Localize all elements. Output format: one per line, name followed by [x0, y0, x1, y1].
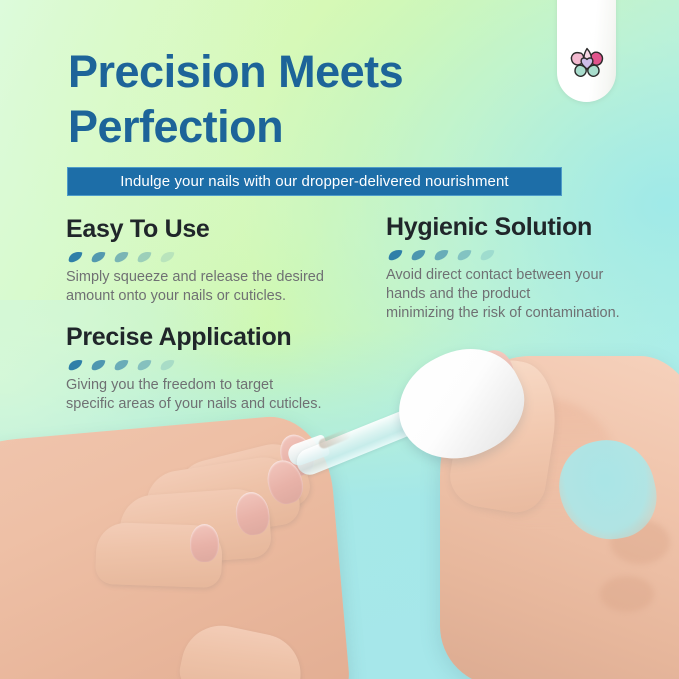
feature-body-line: Simply squeeze and release the desired — [66, 268, 366, 287]
page-title: Precision Meets Perfection — [68, 44, 528, 154]
feature-body-line: specific areas of your nails and cuticle… — [66, 395, 371, 414]
leaf-icon — [68, 359, 83, 371]
product-feature-poster: Precision Meets Perfection Indulge your … — [0, 0, 679, 679]
leaf-icon — [480, 249, 495, 261]
page-title-line-2: Perfection — [68, 99, 528, 154]
leaf-icon — [137, 359, 152, 371]
feature-body-precise-application: Giving you the freedom to target specifi… — [66, 376, 371, 414]
leaf-icon — [114, 251, 129, 263]
feature-body-line: minimizing the risk of contamination. — [386, 304, 666, 323]
left-hand-nail-pinky — [190, 524, 219, 562]
tagline-text: Indulge your nails with our dropper-deli… — [120, 173, 508, 190]
feature-body-line: hands and the product — [386, 285, 666, 304]
leaf-divider-precise-application — [68, 358, 371, 371]
feature-block-precise-application: Precise Application Giving you the freed… — [66, 322, 371, 414]
leaf-icon — [411, 249, 426, 261]
leaf-icon — [137, 251, 152, 263]
flower-heart-logo-icon — [566, 41, 608, 83]
feature-title-hygienic-solution: Hygienic Solution — [386, 212, 666, 242]
tagline-banner: Indulge your nails with our dropper-deli… — [67, 167, 562, 196]
leaf-divider-hygienic-solution — [388, 248, 666, 261]
leaf-icon — [457, 249, 472, 261]
leaf-icon — [91, 359, 106, 371]
right-hand-knuckle-2 — [600, 576, 654, 612]
leaf-icon — [68, 251, 83, 263]
feature-block-easy-to-use: Easy To Use Simply squeeze and release t… — [66, 214, 366, 306]
leaf-icon — [434, 249, 449, 261]
feature-body-line: Avoid direct contact between your — [386, 266, 666, 285]
feature-body-line: Giving you the freedom to target — [66, 376, 371, 395]
leaf-icon — [160, 359, 175, 371]
feature-body-line: amount onto your nails or cuticles. — [66, 287, 366, 306]
leaf-icon — [388, 249, 403, 261]
leaf-icon — [91, 251, 106, 263]
feature-body-hygienic-solution: Avoid direct contact between your hands … — [386, 266, 666, 323]
leaf-divider-easy-to-use — [68, 250, 366, 263]
feature-title-easy-to-use: Easy To Use — [66, 214, 366, 244]
feature-title-precise-application: Precise Application — [66, 322, 371, 352]
leaf-icon — [160, 251, 175, 263]
feature-body-easy-to-use: Simply squeeze and release the desired a… — [66, 268, 366, 306]
page-title-line-1: Precision Meets — [68, 44, 528, 99]
feature-block-hygienic-solution: Hygienic Solution Avoid direct contact b… — [386, 212, 666, 323]
leaf-icon — [114, 359, 129, 371]
